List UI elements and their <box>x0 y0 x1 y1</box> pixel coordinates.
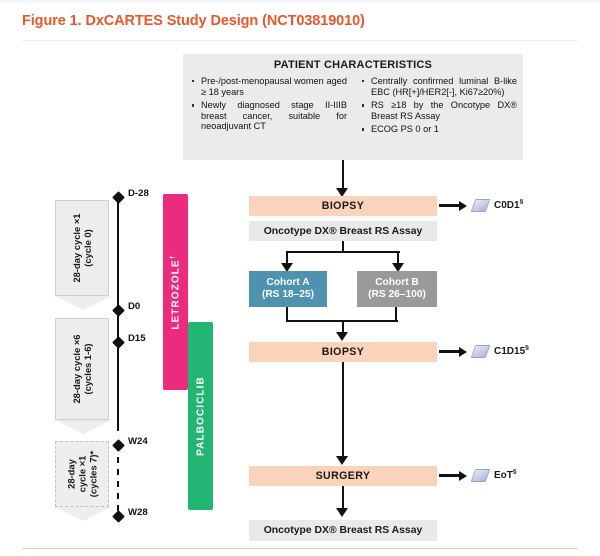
list-item: Pre-/post-menopausal women aged ≥ 18 yea… <box>191 76 347 97</box>
list-item: RS ≥18 by the Oncotype DX® Breast RS Ass… <box>361 100 517 121</box>
cycle-box-0-point <box>55 296 111 310</box>
cycle-box-label: 28-day cycle ×6 (cycles 1-6) <box>71 334 93 403</box>
figure-canvas: Figure 1. DxCARTES Study Design (NCT0381… <box>0 0 600 556</box>
list-item: ECOG PS 0 or 1 <box>361 124 517 135</box>
flow-box-assay-2: Oncotype DX® Breast RS Assay <box>249 520 437 541</box>
sample-footnote-marker: § <box>513 469 517 476</box>
flow-box-biopsy-1: BIOPSY <box>249 196 437 216</box>
patient-characteristics-columns: Pre-/post-menopausal women aged ≥ 18 yea… <box>183 76 523 138</box>
cohort-b-range: (RS 26–100) <box>368 289 426 300</box>
sample-label-text: EoT <box>494 470 513 481</box>
callout-line <box>439 204 459 206</box>
tissue-slide-icon <box>471 469 491 482</box>
cycle-line-2: (cycles 1-6) <box>82 343 93 394</box>
timeline-tick-label: D0 <box>128 301 140 312</box>
timeline-marker <box>112 336 125 349</box>
cycle-box-2: 28-day cycle ×1 (cycles 7)* <box>55 441 109 507</box>
arrowhead-icon <box>459 201 467 211</box>
arrowhead-icon <box>336 456 348 465</box>
connector-surgery-to-assay2 <box>342 486 344 510</box>
flow-box-surgery: SURGERY <box>249 466 437 486</box>
tissue-slide-icon <box>471 345 491 358</box>
patient-characteristics-right-column: Centrally confirmed luminal B-like EBC (… <box>353 76 523 138</box>
timeline-tick-label: W28 <box>128 507 148 518</box>
cohort-a-text: Cohort A (RS 18–25) <box>262 277 314 302</box>
footer-divider <box>22 548 578 549</box>
cycle-line-2: cycle ×1 <box>77 456 88 493</box>
cycle-line-1: 28-day <box>66 459 77 489</box>
flow-box-cohort-a: Cohort A (RS 18–25) <box>249 271 327 307</box>
cohort-b-text: Cohort B (RS 26–100) <box>368 277 426 302</box>
cycle-line-2: (cycle 0) <box>82 229 93 267</box>
callout-line <box>439 350 459 352</box>
patient-characteristics-title: PATIENT CHARACTERISTICS <box>183 59 523 71</box>
connector-biopsy2-to-surgery <box>342 362 344 458</box>
timeline-marker <box>112 191 125 204</box>
drug-bar-letrozole-label: LETROZOLE† <box>170 254 181 329</box>
cycle-line-1: 28-day cycle ×1 <box>71 213 82 282</box>
figure-title: Figure 1. DxCARTES Study Design (NCT0381… <box>22 13 365 29</box>
cohort-b-title: Cohort B <box>375 277 419 288</box>
drug-footnote-marker: † <box>169 254 176 259</box>
arrowhead-icon <box>336 332 348 341</box>
sample-footnote-marker: § <box>525 345 529 352</box>
cohort-a-title: Cohort A <box>266 277 309 288</box>
connector-assay-split-bar <box>286 251 400 253</box>
timeline-marker <box>112 304 125 317</box>
tissue-slide-icon <box>471 199 491 212</box>
sample-label: EoT§ <box>494 470 517 481</box>
drug-name: PALBOCICLIB <box>195 376 206 456</box>
callout-line <box>439 474 459 476</box>
flow-box-cohort-b: Cohort B (RS 26–100) <box>357 271 437 307</box>
list-item: Centrally confirmed luminal B-like EBC (… <box>361 76 517 97</box>
arrowhead-icon <box>459 471 467 481</box>
sample-label-text: C1D15 <box>494 346 525 357</box>
arrowhead-icon <box>459 347 467 357</box>
cycle-box-label: 28-day cycle ×1 (cycle 0) <box>71 213 93 282</box>
drug-bar-palbociclib: PALBOCICLIB <box>188 322 213 510</box>
sample-label: C0D1§ <box>494 200 523 211</box>
timeline-axis-dashed <box>117 445 119 517</box>
sample-label-text: C0D1 <box>494 200 520 211</box>
flow-box-assay-1: Oncotype DX® Breast RS Assay <box>249 221 437 241</box>
header-top-rule <box>0 0 600 3</box>
cycle-box-2-point <box>55 507 111 521</box>
timeline-marker <box>112 510 125 523</box>
sample-callout-c1d15: C1D15§ <box>439 345 529 358</box>
cycle-box-0: 28-day cycle ×1 (cycle 0) <box>55 200 109 296</box>
header-divider <box>22 40 578 41</box>
list-item: Newly diagnosed stage II-IIIB breast can… <box>191 100 347 132</box>
sample-callout-eot: EoT§ <box>439 469 517 482</box>
drug-name: LETROZOLE <box>170 259 181 329</box>
drug-bar-palbociclib-label: PALBOCICLIB <box>195 376 206 456</box>
timeline-tick-label: D-28 <box>128 188 149 199</box>
arrowhead-icon <box>336 508 348 517</box>
cycle-line-3: (cycles 7)* <box>88 451 99 497</box>
sample-callout-c0d1: C0D1§ <box>439 199 523 212</box>
sample-label: C1D15§ <box>494 346 529 357</box>
patient-characteristics-box: PATIENT CHARACTERISTICS Pre-/post-menopa… <box>183 54 523 160</box>
cycle-line-1: 28-day cycle ×6 <box>71 334 82 403</box>
cycle-box-1: 28-day cycle ×6 (cycles 1-6) <box>55 318 109 420</box>
flow-box-biopsy-2: BIOPSY <box>249 342 437 362</box>
timeline-tick-label: D15 <box>128 333 146 344</box>
cycle-box-1-point <box>55 420 111 434</box>
patient-characteristics-left-column: Pre-/post-menopausal women aged ≥ 18 yea… <box>183 76 353 138</box>
sample-footnote-marker: § <box>520 199 524 206</box>
drug-bar-letrozole: LETROZOLE† <box>163 194 188 390</box>
timeline-tick-label: W24 <box>128 436 148 447</box>
timeline-marker <box>112 439 125 452</box>
cycle-box-label: 28-day cycle ×1 (cycles 7)* <box>66 451 99 497</box>
cohort-a-range: (RS 18–25) <box>262 289 314 300</box>
